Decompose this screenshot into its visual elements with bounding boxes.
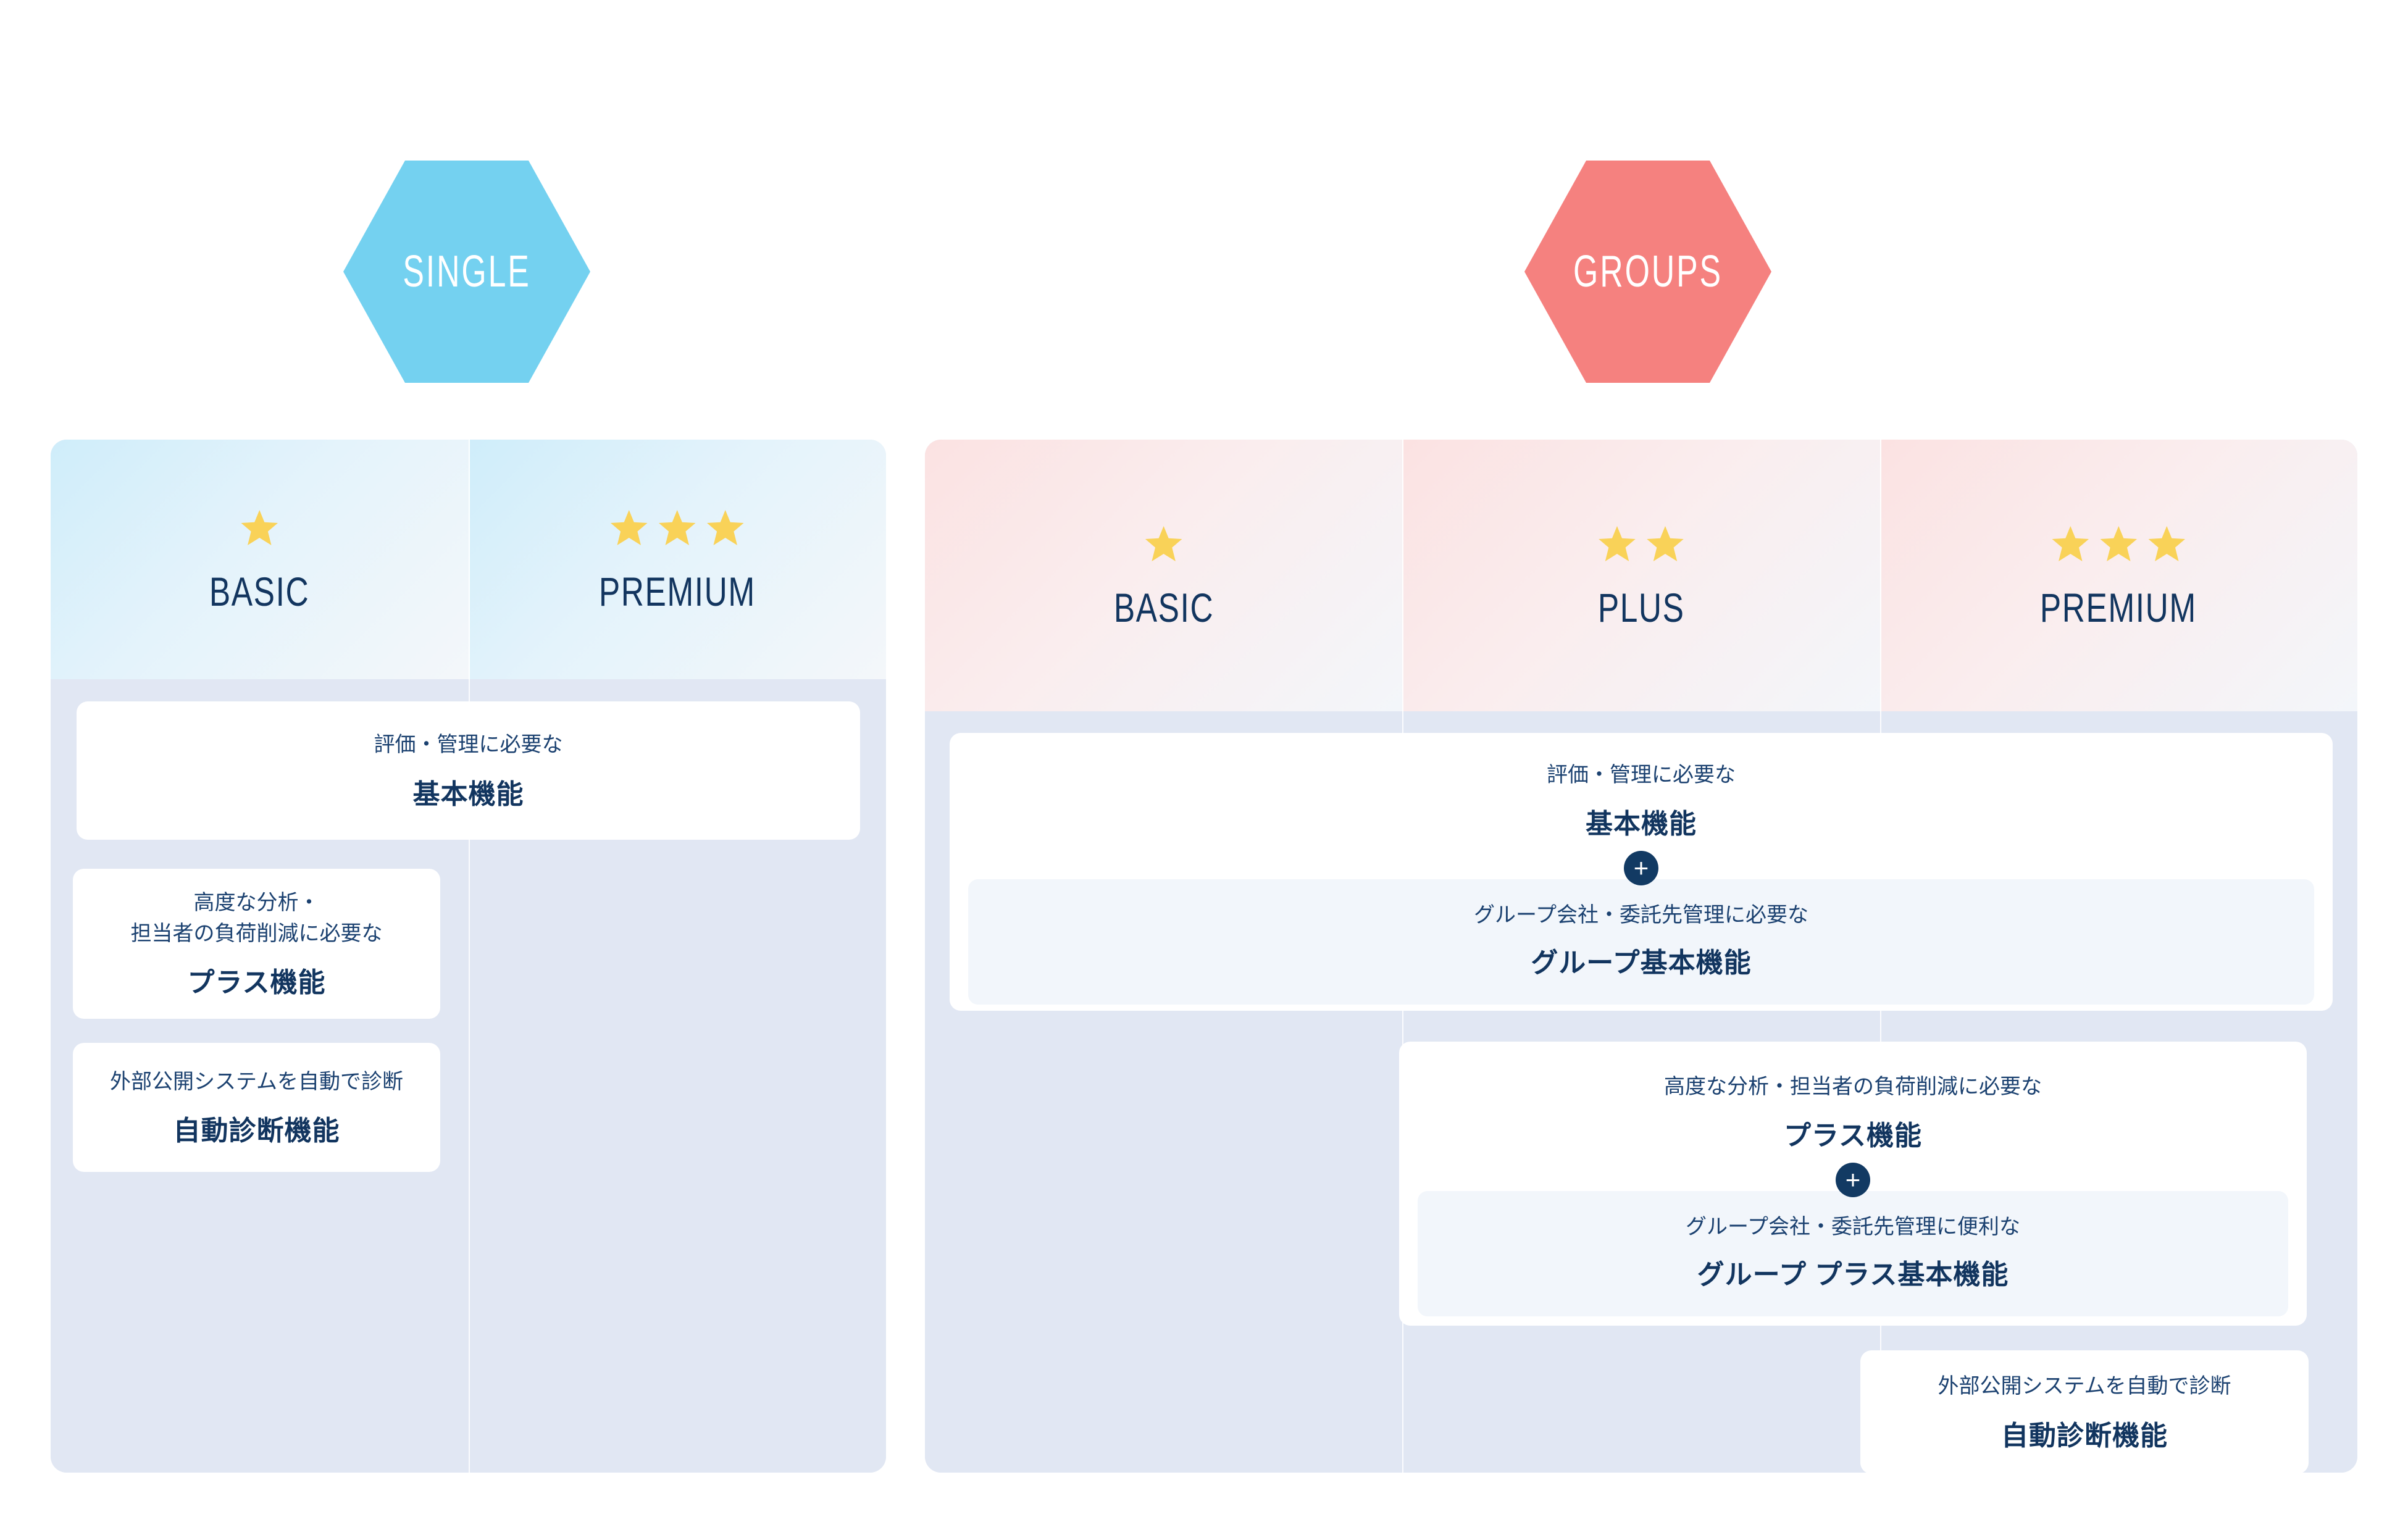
star-icon	[658, 510, 696, 547]
single-badge-label: SINGLE	[403, 246, 530, 297]
feature-card-groups-basic[interactable]: 評価・管理に必要な 基本機能 + グループ会社・委託先管理に必要な グループ基本…	[950, 733, 2333, 1011]
star-rating-single-basic	[240, 510, 278, 547]
feature-card-subtitle: 高度な分析・担当者の負荷削減に必要な	[1664, 1072, 2042, 1102]
groups-plan-hexagon-badge: GROUPS	[1524, 161, 1771, 383]
feature-card-subtitle: 評価・管理に必要な	[1547, 760, 1736, 790]
feature-card-title: プラス機能	[1784, 1113, 1922, 1153]
feature-card-subtitle: 外部公開システムを自動で診断	[1938, 1371, 2231, 1402]
star-icon	[1145, 526, 1183, 563]
feature-card-subtitle: グループ会社・委託先管理に必要な	[1474, 900, 1808, 930]
star-icon	[1598, 526, 1636, 563]
plan-name-groups-basic: BASIC	[1114, 584, 1214, 631]
feature-card-subtitle: 高度な分析・ 担当者の負荷削減に必要な	[131, 888, 383, 949]
feature-card-title: 基本機能	[1586, 801, 1697, 841]
plan-name-groups-plus: PLUS	[1598, 584, 1685, 631]
feature-card-single-basic[interactable]: 評価・管理に必要な 基本機能	[77, 701, 860, 840]
feature-card-groups-basic-addon[interactable]: グループ会社・委託先管理に必要な グループ基本機能	[968, 879, 2314, 1005]
feature-card-title: 自動診断機能	[173, 1108, 340, 1148]
feature-card-title: 基本機能	[413, 772, 524, 811]
groups-plan-header-row: BASIC PLUS PREMIUM	[925, 440, 2357, 711]
feature-card-title: プラス機能	[187, 960, 325, 1000]
groups-badge-label: GROUPS	[1573, 246, 1723, 297]
feature-card-groups-plus-addon[interactable]: グループ会社・委託先管理に便利な グループ プラス基本機能	[1418, 1191, 2288, 1316]
star-icon	[706, 510, 745, 547]
feature-card-subtitle: 外部公開システムを自動で診断	[110, 1067, 403, 1097]
star-icon	[1646, 526, 1684, 563]
feature-card-single-plus[interactable]: 高度な分析・ 担当者の負荷削減に必要な プラス機能	[73, 869, 440, 1019]
single-plan-panel: BASIC PREMIUM 評価・管理に必要な 基本機能 高度な分析・ 担当者の…	[51, 440, 886, 1473]
plus-icon: +	[1836, 1163, 1870, 1197]
plan-name-groups-premium: PREMIUM	[2040, 584, 2197, 631]
column-header-groups-plus[interactable]: PLUS	[1402, 440, 1879, 711]
plan-name-single-basic: BASIC	[209, 568, 309, 615]
single-plan-hexagon-badge: SINGLE	[343, 161, 590, 383]
star-icon	[2147, 526, 2186, 563]
column-header-single-basic[interactable]: BASIC	[51, 440, 469, 679]
feature-card-groups-plus[interactable]: 高度な分析・担当者の負荷削減に必要な プラス機能 + グループ会社・委託先管理に…	[1399, 1042, 2307, 1326]
plus-icon: +	[1624, 851, 1658, 885]
single-plan-body: 評価・管理に必要な 基本機能 高度な分析・ 担当者の負荷削減に必要な プラス機能…	[51, 679, 886, 1473]
groups-plan-body: 評価・管理に必要な 基本機能 + グループ会社・委託先管理に必要な グループ基本…	[925, 711, 2357, 1473]
star-icon	[2051, 526, 2089, 563]
column-header-single-premium[interactable]: PREMIUM	[469, 440, 887, 679]
single-plan-header-row: BASIC PREMIUM	[51, 440, 886, 679]
feature-card-title: 自動診断機能	[2001, 1413, 2168, 1453]
star-rating-single-premium	[610, 510, 745, 547]
feature-card-subtitle: 評価・管理に必要な	[374, 730, 563, 760]
feature-card-single-auto-diagnosis[interactable]: 外部公開システムを自動で診断 自動診断機能	[73, 1043, 440, 1172]
feature-card-title: グループ基本機能	[1531, 940, 1751, 980]
star-rating-groups-premium	[2051, 526, 2186, 563]
groups-plan-panel: BASIC PLUS PREMIUM 評価・管理に必要な 基本機能 +	[925, 440, 2357, 1473]
plan-name-single-premium: PREMIUM	[599, 568, 756, 615]
feature-card-subtitle: グループ会社・委託先管理に便利な	[1686, 1212, 2020, 1242]
column-header-groups-basic[interactable]: BASIC	[925, 440, 1402, 711]
star-rating-groups-plus	[1598, 526, 1684, 563]
star-icon	[240, 510, 278, 547]
feature-card-groups-auto-diagnosis[interactable]: 外部公開システムを自動で診断 自動診断機能	[1860, 1350, 2309, 1473]
feature-card-title: グループ プラス基本機能	[1697, 1252, 2009, 1292]
star-icon	[610, 510, 648, 547]
star-icon	[2099, 526, 2138, 563]
column-header-groups-premium[interactable]: PREMIUM	[1880, 440, 2357, 711]
star-rating-groups-basic	[1145, 526, 1183, 563]
